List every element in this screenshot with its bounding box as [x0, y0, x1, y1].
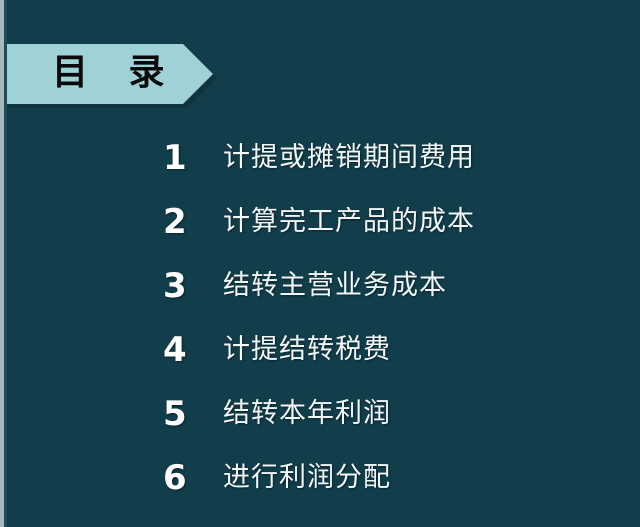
list-item-number: 4 [163, 333, 223, 367]
list-item-label: 结转主营业务成本 [223, 271, 447, 301]
list-item-label: 计提结转税费 [223, 335, 391, 365]
presentation-slide: 目 录 1 计提或摊销期间费用 2 计算完工产品的成本 3 结转主营业务成本 4… [0, 0, 640, 527]
list-item[interactable]: 2 计算完工产品的成本 [0, 190, 640, 254]
list-item-label: 计提或摊销期间费用 [223, 143, 475, 173]
list-item-number: 2 [163, 205, 223, 239]
list-item[interactable]: 5 结转本年利润 [0, 382, 640, 446]
title-banner: 目 录 [0, 44, 213, 104]
table-of-contents-list: 1 计提或摊销期间费用 2 计算完工产品的成本 3 结转主营业务成本 4 计提结… [0, 126, 640, 510]
list-item[interactable]: 4 计提结转税费 [0, 318, 640, 382]
slide-left-edge-inner-strip [4, 0, 7, 527]
list-item-label: 计算完工产品的成本 [223, 207, 475, 237]
page-title: 目 录 [52, 44, 179, 104]
list-item-number: 6 [163, 461, 223, 495]
list-item[interactable]: 3 结转主营业务成本 [0, 254, 640, 318]
list-item-label: 结转本年利润 [223, 399, 391, 429]
list-item-number: 1 [163, 141, 223, 175]
list-item-number: 3 [163, 269, 223, 303]
list-item-label: 进行利润分配 [223, 463, 391, 493]
list-item-number: 5 [163, 397, 223, 431]
list-item[interactable]: 1 计提或摊销期间费用 [0, 126, 640, 190]
list-item[interactable]: 6 进行利润分配 [0, 446, 640, 510]
